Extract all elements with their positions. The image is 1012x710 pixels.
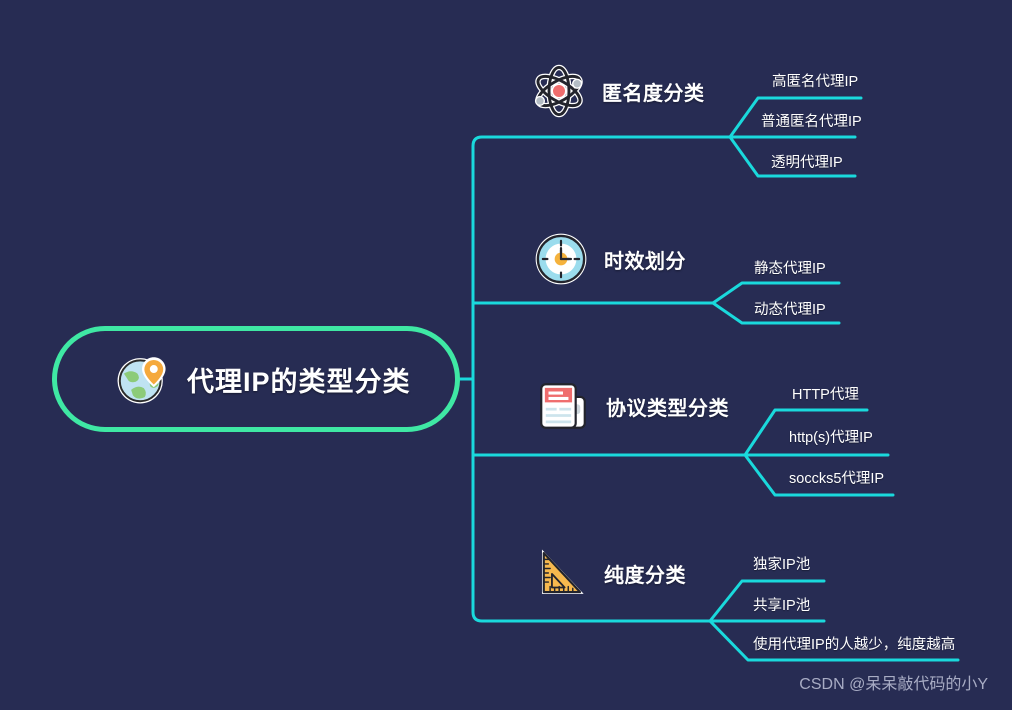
leaf-label[interactable]: 动态代理IP [754,298,826,319]
leaf-label[interactable]: 独家IP池 [753,553,810,574]
leaf-label[interactable]: 静态代理IP [754,257,826,278]
leaf-label[interactable]: HTTP代理 [792,383,859,404]
branch-node-anonymity[interactable]: 匿名度分类 [530,62,705,120]
leaf-label[interactable]: 普通匿名代理IP [761,110,862,131]
watermark: CSDN @呆呆敲代码的小Y [799,670,988,694]
branch-label: 时效划分 [604,245,686,274]
root-node[interactable]: 代理IP的类型分类 [52,326,460,432]
trunk-up [473,137,520,379]
leaf-label[interactable]: 高匿名代理IP [772,70,858,91]
leaf-label[interactable]: 共享IP池 [753,594,810,615]
branch-node-purity[interactable]: 纯度分类 [532,544,686,602]
trunk-down [473,379,520,621]
atom-icon [530,62,588,120]
triangle-ruler-icon [532,544,590,602]
leaf-label[interactable]: soccks5代理IP [789,467,884,488]
root-label: 代理IP的类型分类 [187,360,411,399]
mindmap-canvas: 代理IP的类型分类 匿名度分类 [0,0,1012,710]
leaf-label[interactable]: 透明代理IP [771,151,843,172]
globe-pin-icon [113,350,171,408]
branch-node-protocol[interactable]: 协议类型分类 [534,377,729,435]
branch-label: 匿名度分类 [602,77,705,106]
leaf-label[interactable]: 使用代理IP的人越少，纯度越高 [753,633,955,654]
newspaper-icon [534,377,592,435]
clock-icon [532,230,590,288]
branch-label: 协议类型分类 [606,392,729,421]
branch-label: 纯度分类 [604,559,686,588]
leaf-label[interactable]: http(s)代理IP [789,426,873,447]
branch-node-timeliness[interactable]: 时效划分 [532,230,686,288]
